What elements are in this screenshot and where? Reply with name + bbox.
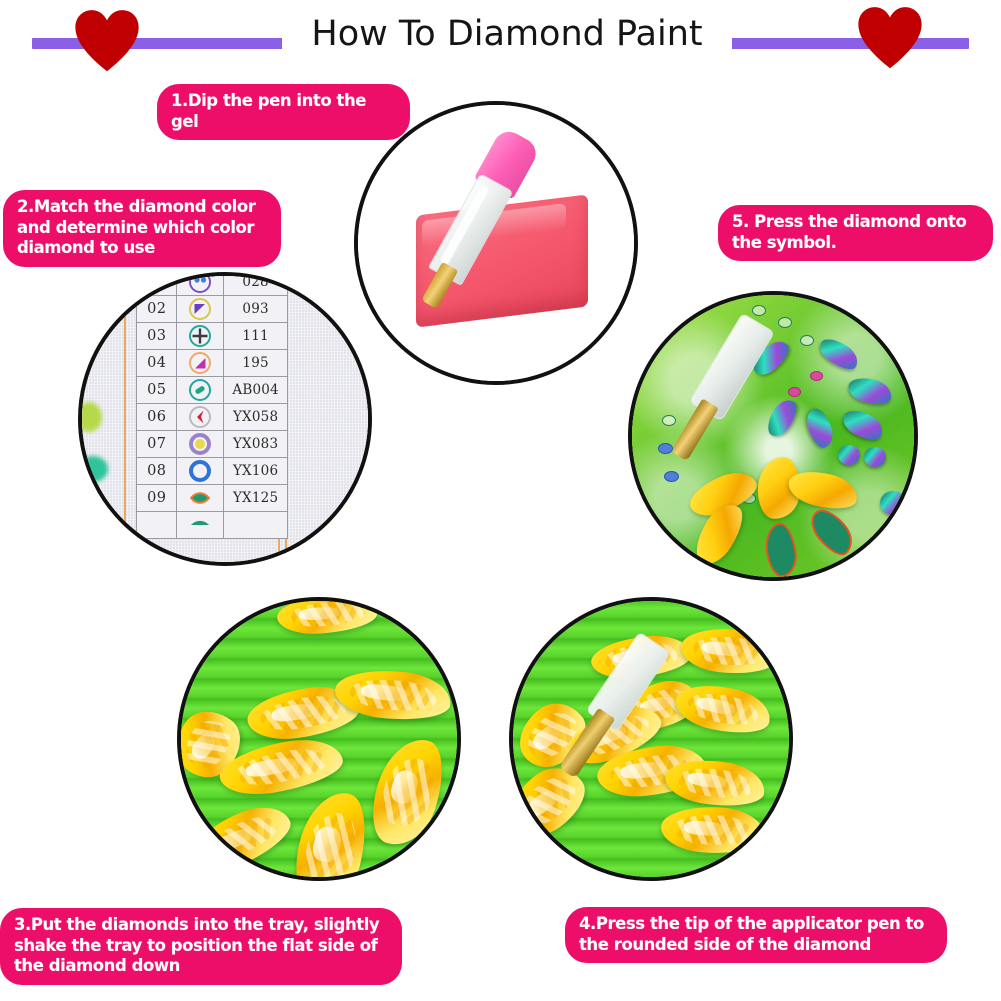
heart-icon [855, 5, 925, 71]
yellow-diamond [660, 803, 767, 856]
iridescent-diamond [839, 405, 887, 446]
step-5-photo-circle [628, 291, 918, 581]
yellow-diamond [182, 796, 298, 881]
pen-tip [421, 262, 458, 309]
table-row: 028 [137, 272, 288, 296]
row-number: 06 [137, 404, 177, 431]
canvas-symbol [654, 323, 668, 333]
row-symbol [177, 296, 224, 323]
iridescent-diamond [803, 406, 836, 451]
table-row: 04 195 [137, 350, 288, 377]
row-code: 028 [224, 272, 288, 296]
yellow-diamond [276, 597, 378, 636]
row-code: YX106 [224, 458, 288, 485]
canvas-symbol [788, 387, 801, 397]
triangle-icon [189, 298, 211, 320]
row-symbol [177, 458, 224, 485]
row-code: 195 [224, 350, 288, 377]
triangle-icon [189, 352, 211, 374]
step-1-photo-circle [354, 101, 638, 385]
row-code: YX058 [224, 404, 288, 431]
canvas-color-blob [78, 456, 108, 482]
row-code [224, 512, 288, 539]
row-symbol [177, 485, 224, 512]
iridescent-diamond [864, 447, 886, 467]
page-title: How To Diamond Paint [311, 14, 702, 54]
step-2-photo-circle: 028 02 093 03 [78, 272, 372, 566]
infographic-canvas: How To Diamond Paint 1.Dip the pen into … [0, 0, 1001, 1001]
iridescent-diamond [838, 445, 860, 465]
applicator-pen [644, 293, 791, 489]
table-row: 02 093 [137, 296, 288, 323]
row-symbol [177, 350, 224, 377]
pen-dipping-into-gel-photo [358, 105, 634, 381]
step-4-photo-circle [509, 597, 793, 881]
step-3-photo-circle [177, 597, 461, 881]
color-code-chart-photo: 028 02 093 03 [82, 276, 368, 562]
pen-placing-diamond-on-canvas-photo [632, 295, 914, 577]
canvas-color-blob [78, 402, 102, 432]
table-row [137, 512, 288, 539]
leaf-symbol [762, 521, 799, 579]
blue-eyes-icon [189, 272, 211, 293]
row-code: 111 [224, 323, 288, 350]
step-5-label: 5. Press the diamond onto the symbol. [718, 205, 993, 261]
canvas-symbol [810, 371, 823, 381]
chevron-left-icon [189, 406, 211, 428]
row-number [137, 272, 177, 296]
row-symbol [177, 431, 224, 458]
row-code: YX125 [224, 485, 288, 512]
row-number: 04 [137, 350, 177, 377]
pill-icon [189, 379, 211, 401]
leaf-icon [189, 487, 211, 509]
plus-icon [189, 325, 211, 347]
dot-icon [189, 433, 211, 455]
table-row: 05 AB004 [137, 377, 288, 404]
row-number: 09 [137, 485, 177, 512]
step-3-label: 3.Put the diamonds into the tray, slight… [0, 908, 402, 985]
pen-tip [671, 398, 719, 461]
yellow-diamond [362, 730, 455, 854]
row-code: YX083 [224, 431, 288, 458]
step-4-label: 4.Press the tip of the applicator pen to… [565, 907, 947, 963]
row-number: 03 [137, 323, 177, 350]
pen-pressing-diamond-in-tray-photo [513, 601, 789, 877]
step-1-label: 1.Dip the pen into the gel [157, 84, 410, 140]
yellow-diamonds-in-green-tray-photo [181, 601, 457, 877]
canvas-guide-line [124, 276, 126, 562]
step-2-label: 2.Match the diamond color and determine … [3, 190, 281, 267]
table-row: 03 111 [137, 323, 288, 350]
canvas-symbol [800, 335, 814, 346]
iridescent-diamond [846, 373, 895, 408]
row-symbol [177, 272, 224, 296]
table-row: 09 YX125 [137, 485, 288, 512]
row-number [137, 512, 177, 539]
ring-icon [189, 460, 211, 482]
iridescent-diamond [815, 333, 862, 375]
canvas-symbol [672, 309, 685, 319]
row-symbol [177, 377, 224, 404]
heart-icon [72, 8, 142, 74]
table-row: 06 YX058 [137, 404, 288, 431]
color-code-table: 028 02 093 03 [136, 272, 288, 539]
row-number: 05 [137, 377, 177, 404]
row-symbol [177, 323, 224, 350]
leaf-symbol [804, 502, 860, 561]
row-number: 07 [137, 431, 177, 458]
row-symbol [177, 404, 224, 431]
yellow-diamond [286, 785, 376, 881]
row-symbol [177, 512, 224, 539]
row-number: 02 [137, 296, 177, 323]
iridescent-diamond [762, 395, 802, 441]
yellow-diamond [679, 624, 779, 678]
iridescent-diamond [880, 491, 906, 515]
row-number: 08 [137, 458, 177, 485]
row-code: AB004 [224, 377, 288, 404]
table-row: 07 YX083 [137, 431, 288, 458]
table-row: 08 YX106 [137, 458, 288, 485]
page-title-background: How To Diamond Paint [282, 12, 732, 58]
row-code: 093 [224, 296, 288, 323]
leaf-icon [189, 514, 211, 536]
